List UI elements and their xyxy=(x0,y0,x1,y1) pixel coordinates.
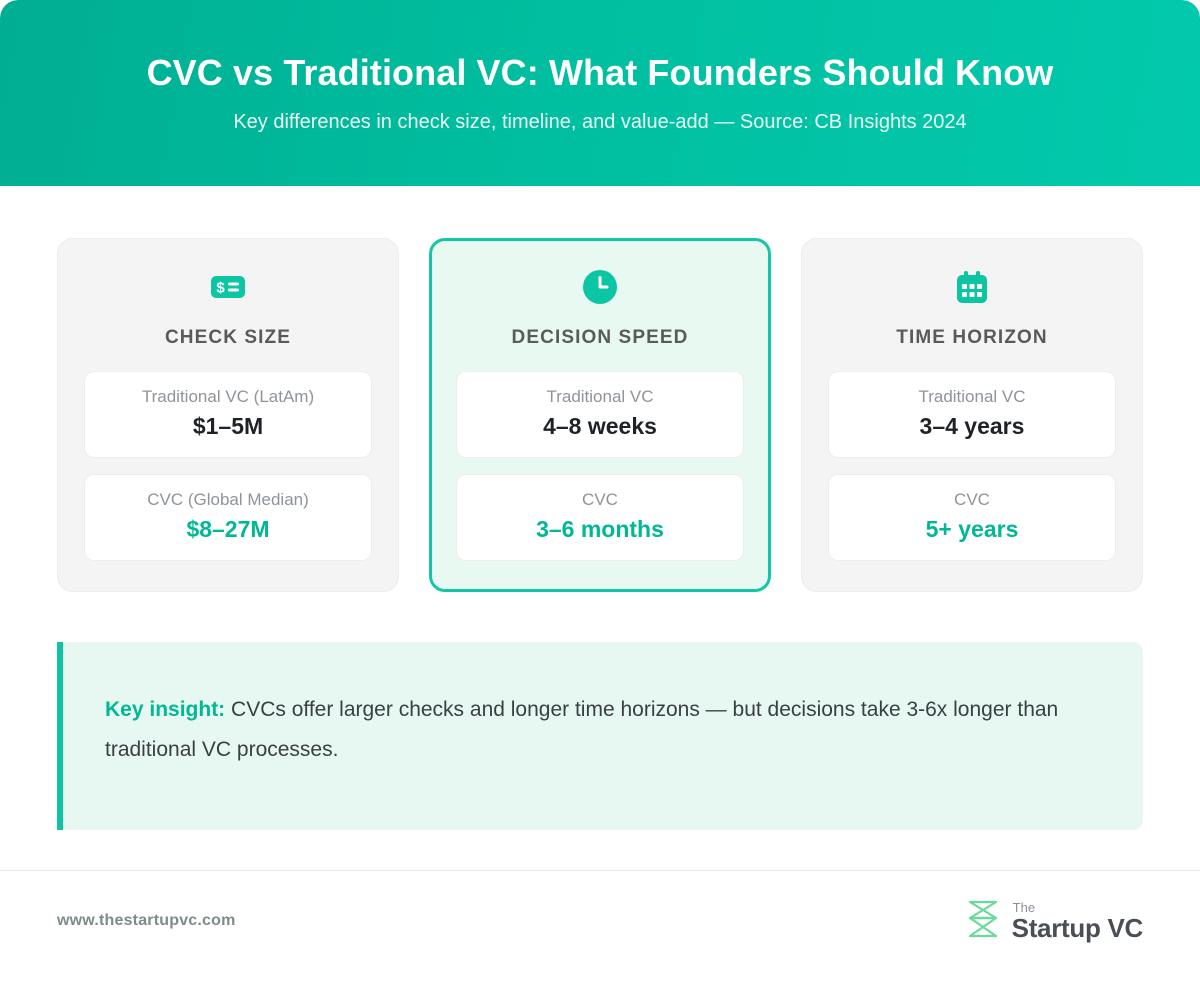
brand-wordmark: The Startup VC xyxy=(1012,901,1143,941)
footer-website-url[interactable]: www.thestartupvc.com xyxy=(57,912,236,930)
metric-row: CVC 5+ years xyxy=(828,474,1116,561)
metric-value: 3–4 years xyxy=(839,413,1105,441)
metric-row: Traditional VC 4–8 weeks xyxy=(456,371,744,458)
metric-label: Traditional VC xyxy=(467,386,733,407)
calendar-icon xyxy=(952,267,992,307)
metric-row: Traditional VC (LatAm) $1–5M xyxy=(84,371,372,458)
page-title: CVC vs Traditional VC: What Founders Sho… xyxy=(147,52,1054,93)
key-insight-text: Key insight: CVCs offer larger checks an… xyxy=(105,690,1097,770)
key-insight-callout: Key insight: CVCs offer larger checks an… xyxy=(57,642,1143,830)
key-insight-lead: Key insight: xyxy=(105,698,225,721)
key-insight-body: CVCs offer larger checks and longer time… xyxy=(105,698,1058,761)
card-title: TIME HORIZON xyxy=(896,327,1047,349)
metric-value: $8–27M xyxy=(95,516,361,544)
card-time-horizon[interactable]: TIME HORIZON Traditional VC 3–4 years CV… xyxy=(801,238,1143,592)
page-subtitle: Key differences in check size, timeline,… xyxy=(233,110,966,134)
metric-label: Traditional VC xyxy=(839,386,1105,407)
metric-value: 3–6 months xyxy=(467,516,733,544)
metric-label: Traditional VC (LatAm) xyxy=(95,386,361,407)
brand-name-label: Startup VC xyxy=(1012,915,1143,941)
brand-logo[interactable]: The Startup VC xyxy=(965,897,1143,946)
card-title: DECISION SPEED xyxy=(512,327,689,349)
metric-label: CVC xyxy=(467,489,733,510)
card-decision-speed[interactable]: DECISION SPEED Traditional VC 4–8 weeks … xyxy=(429,238,771,592)
metric-value: $1–5M xyxy=(95,413,361,441)
card-title: CHECK SIZE xyxy=(165,327,291,349)
metric-row: CVC 3–6 months xyxy=(456,474,744,561)
money-bill-icon: $ xyxy=(208,267,248,307)
metric-value: 4–8 weeks xyxy=(467,413,733,441)
card-check-size[interactable]: $ CHECK SIZE Traditional VC (LatAm) $1–5… xyxy=(57,238,399,592)
clock-icon xyxy=(580,267,620,307)
infographic-page: CVC vs Traditional VC: What Founders Sho… xyxy=(0,0,1200,990)
metric-row: Traditional VC 3–4 years xyxy=(828,371,1116,458)
metric-row: CVC (Global Median) $8–27M xyxy=(84,474,372,561)
comparison-cards: $ CHECK SIZE Traditional VC (LatAm) $1–5… xyxy=(0,186,1200,592)
header-banner: CVC vs Traditional VC: What Founders Sho… xyxy=(0,0,1200,186)
logo-mark-icon xyxy=(965,897,1003,946)
metric-label: CVC xyxy=(839,489,1105,510)
svg-text:$: $ xyxy=(216,280,225,297)
metric-value: 5+ years xyxy=(839,516,1105,544)
metric-label: CVC (Global Median) xyxy=(95,489,361,510)
footer: www.thestartupvc.com The Startup VC xyxy=(0,871,1200,946)
